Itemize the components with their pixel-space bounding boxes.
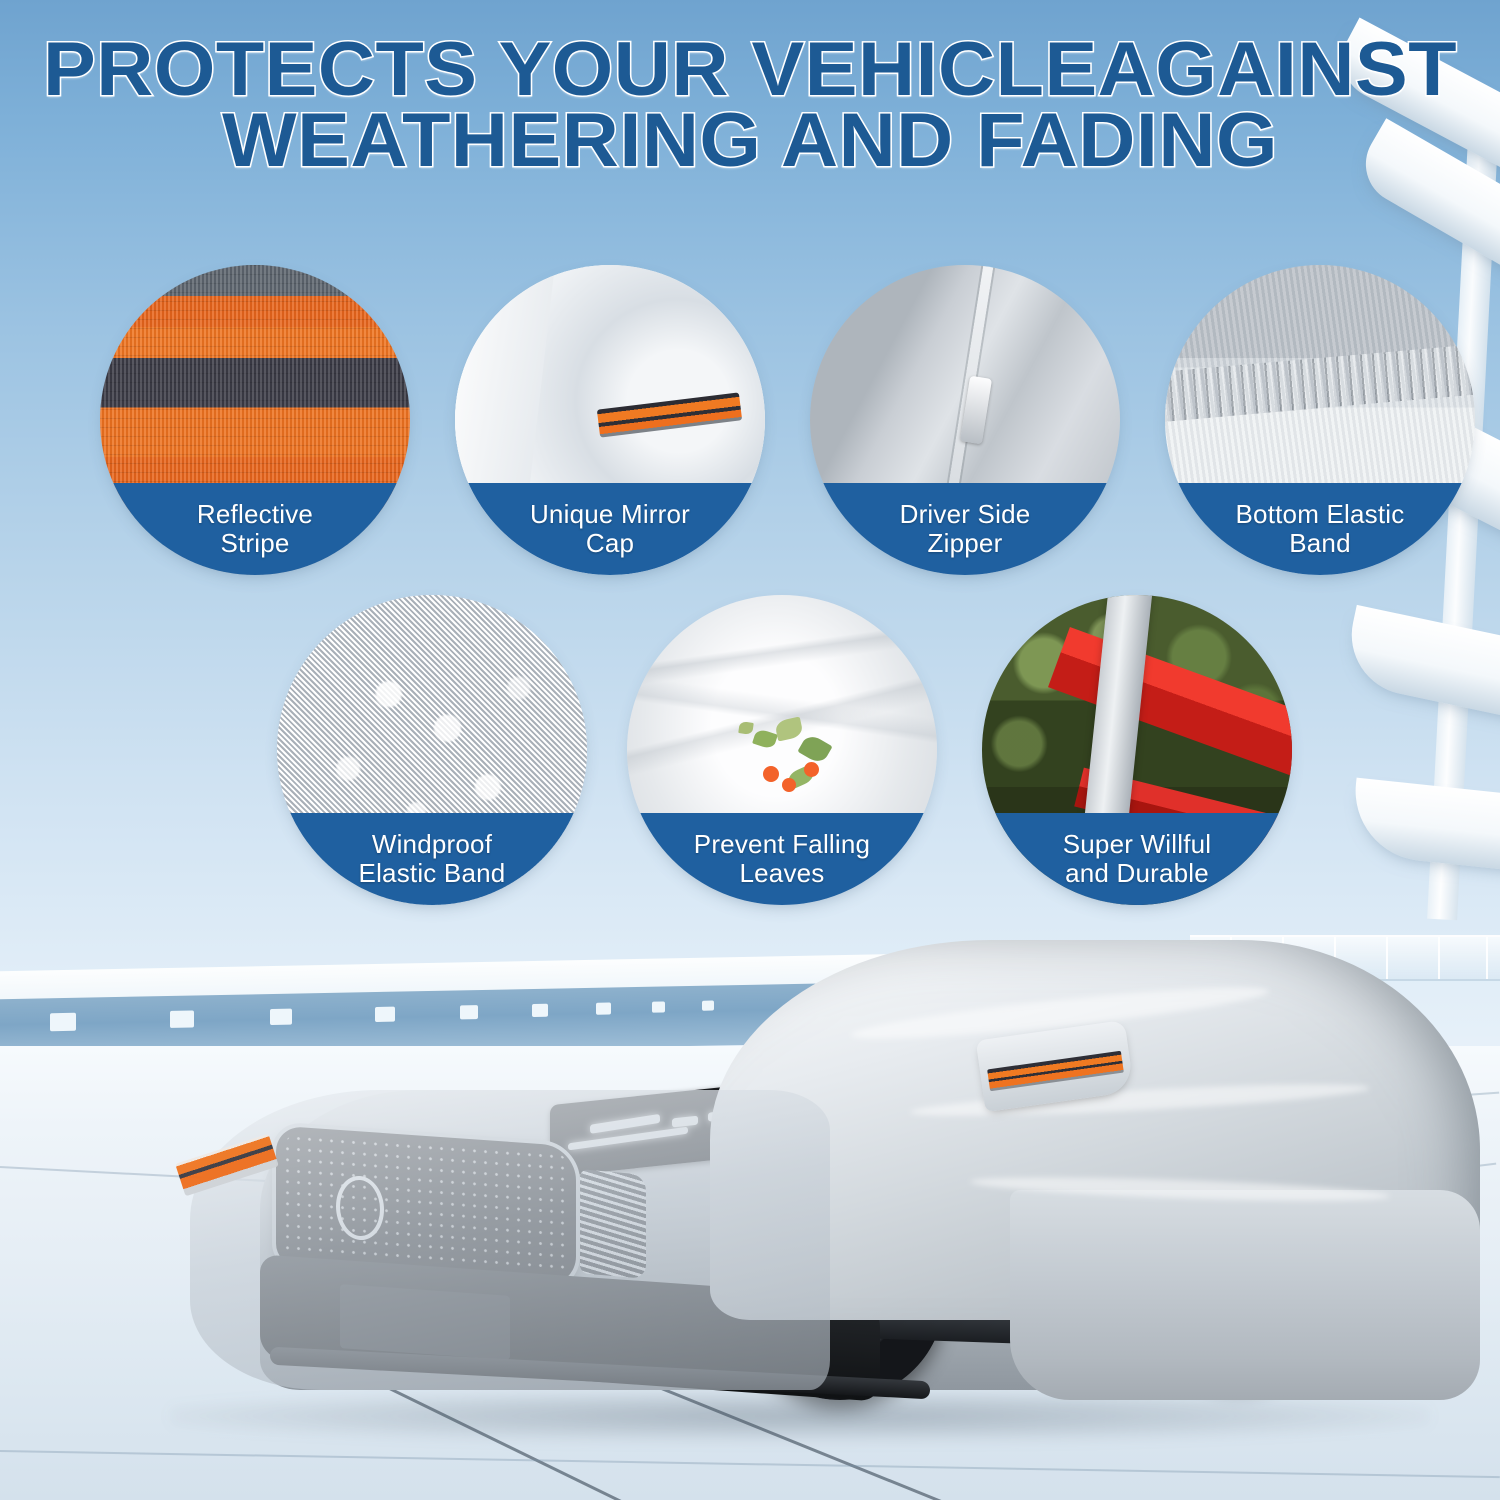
feature-label-line-2: Band — [1236, 529, 1405, 558]
feature-label: Windproof Elastic Band — [277, 813, 587, 905]
feature-label-line-1: Prevent Falling — [694, 830, 870, 859]
feature-label: Reflective Stripe — [100, 483, 410, 575]
car-cover-skirt — [1010, 1190, 1480, 1400]
feature-label-line-1: Driver Side — [900, 500, 1031, 529]
feature-label-line-1: Reflective — [197, 500, 313, 529]
feature-label-line-2: Cap — [530, 529, 690, 558]
page-title: PROTECTS YOUR VEHICLEAGAINST WEATHERING … — [0, 34, 1500, 177]
feature-label-line-1: Super Willful — [1063, 830, 1212, 859]
car-cover-front-drape — [190, 1090, 830, 1390]
feature-label: Bottom Elastic Band — [1165, 483, 1475, 575]
feature-badge-driver-side-zipper[interactable]: Driver Side Zipper — [810, 265, 1120, 575]
hero-covered-car — [150, 940, 1470, 1460]
headline-line-2: WEATHERING AND FADING — [0, 105, 1500, 176]
headline-line-1: PROTECTS YOUR VEHICLEAGAINST — [0, 34, 1500, 105]
feature-label-line-2: Stripe — [197, 529, 313, 558]
feature-label: Prevent Falling Leaves — [627, 813, 937, 905]
feature-label: Unique Mirror Cap — [455, 483, 765, 575]
feature-label-line-2: Leaves — [694, 859, 870, 888]
feature-label-line-2: and Durable — [1063, 859, 1212, 888]
feature-label-line-1: Windproof — [359, 830, 506, 859]
feature-label-line-1: Bottom Elastic — [1236, 500, 1405, 529]
feature-label: Super Willful and Durable — [982, 813, 1292, 905]
feature-label-line-1: Unique Mirror — [530, 500, 690, 529]
product-marketing-image: PROTECTS YOUR VEHICLEAGAINST WEATHERING … — [0, 0, 1500, 1500]
feature-badge-super-willful-and-durable[interactable]: Super Willful and Durable — [982, 595, 1292, 905]
feature-label-line-2: Zipper — [900, 529, 1031, 558]
feature-badge-prevent-falling-leaves[interactable]: Prevent Falling Leaves — [627, 595, 937, 905]
feature-label-line-2: Elastic Band — [359, 859, 506, 888]
feature-badge-bottom-elastic-band[interactable]: Bottom Elastic Band — [1165, 265, 1475, 575]
feature-badge-windproof-elastic-band[interactable]: Windproof Elastic Band — [277, 595, 587, 905]
feature-badge-unique-mirror-cap[interactable]: Unique Mirror Cap — [455, 265, 765, 575]
feature-badge-reflective-stripe[interactable]: Reflective Stripe — [100, 265, 410, 575]
feature-label: Driver Side Zipper — [810, 483, 1120, 575]
